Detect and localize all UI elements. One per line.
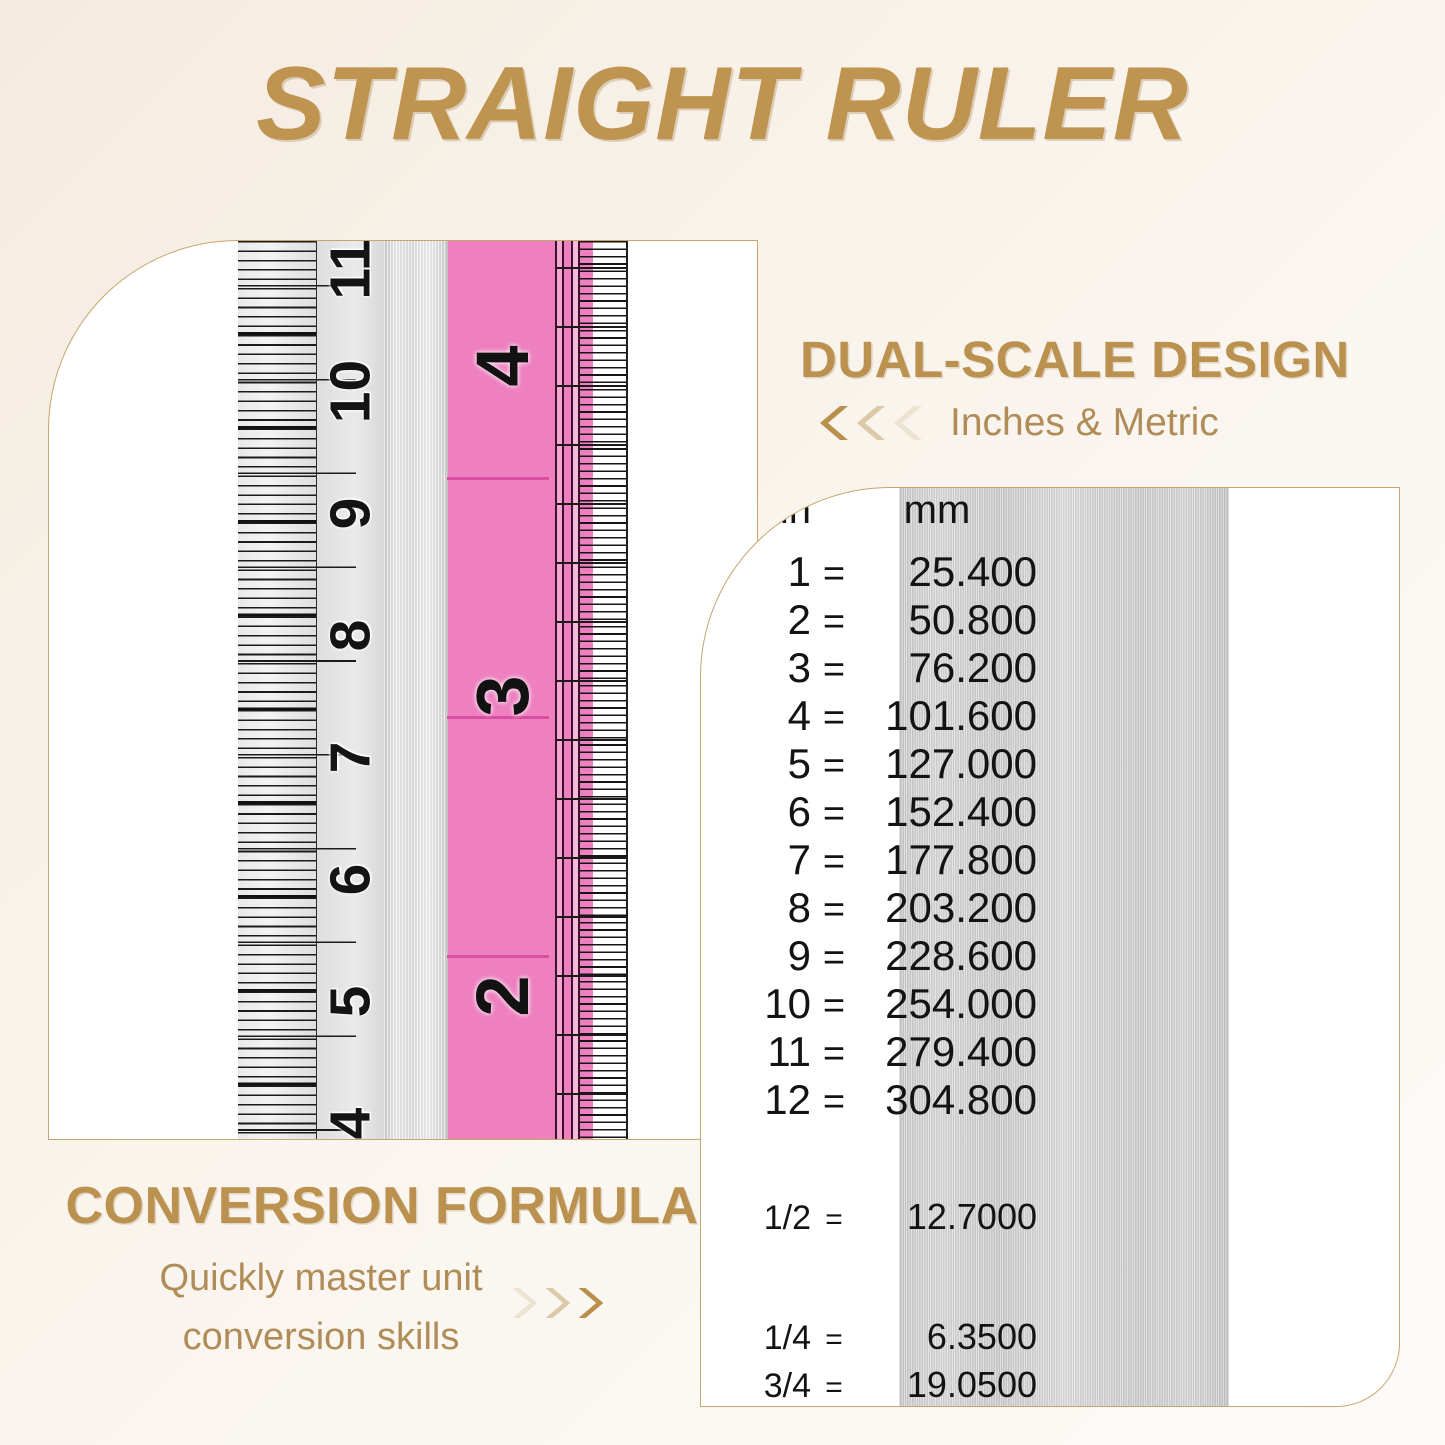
cell-equals: =: [817, 1323, 851, 1357]
cell-mm: 76.200: [851, 644, 1045, 692]
metric-number: 7: [304, 724, 397, 792]
cell-equals: =: [817, 553, 851, 596]
metric-number: 9: [304, 480, 397, 548]
table-row: 4=101.600: [701, 692, 1399, 740]
feature-heading: CONVERSION FORMULA: [52, 1176, 712, 1236]
conversion-table-panel: in mm 1=25.400 2=50.800 3=76.200 4=101.6…: [700, 487, 1400, 1407]
table-row: 3/4=19.0500: [701, 1364, 1399, 1407]
feature-subtitle: Inches & Metric: [950, 401, 1219, 445]
inch-mid-tick-marks: [557, 241, 626, 1139]
table-row: 6=152.400: [701, 788, 1399, 836]
cell-equals: =: [817, 937, 851, 980]
conversion-table: in mm 1=25.400 2=50.800 3=76.200 4=101.6…: [701, 488, 1399, 1406]
cell-mm: 279.400: [851, 1028, 1045, 1076]
cell-in: 1: [701, 548, 817, 596]
cell-mm: 19.0500: [851, 1364, 1045, 1406]
cell-mm: 203.200: [851, 884, 1045, 932]
cell-mm: 50.800: [851, 596, 1045, 644]
table-row: 3=76.200: [701, 644, 1399, 692]
cell-in: 6: [701, 788, 817, 836]
cell-in: 12: [701, 1076, 817, 1124]
feature-subtitle-line2: conversion skills: [159, 1313, 482, 1362]
metric-number: 10: [304, 358, 397, 426]
table-row: 9=228.600: [701, 932, 1399, 980]
ruler-photo-panel: 11 10 9 8 7 6 5 4 4 3 2 32: [48, 240, 758, 1140]
cell-mm: 304.800: [851, 1076, 1045, 1124]
cell-mm: 228.600: [851, 932, 1045, 980]
table-header-row: in mm: [701, 488, 1399, 548]
ruler-illustration: 11 10 9 8 7 6 5 4 4 3 2 32: [49, 241, 757, 1139]
metric-number: 11: [304, 240, 397, 304]
cell-mm: 127.000: [851, 740, 1045, 788]
cell-mm: 152.400: [851, 788, 1045, 836]
ruler-body-strip: [384, 241, 447, 1139]
cell-mm: 254.000: [851, 980, 1045, 1028]
inch-number: 2: [447, 941, 557, 1051]
cell-in: 9: [701, 932, 817, 980]
cell-mm: 177.800: [851, 836, 1045, 884]
cell-equals: =: [817, 697, 851, 740]
feature-heading: DUAL-SCALE DESIGN: [800, 330, 1350, 389]
feature-subrow: Inches & Metric: [800, 401, 1350, 445]
cell-equals: =: [817, 649, 851, 692]
table-group-gap: [701, 1124, 1399, 1196]
cell-in: 7: [701, 836, 817, 884]
cell-equals: =: [817, 841, 851, 884]
inch-number: 4: [447, 311, 557, 421]
table-row: 1=25.400: [701, 548, 1399, 596]
chevron-right-icon: [509, 1284, 605, 1322]
cell-in: 10: [701, 980, 817, 1028]
cell-mm: 101.600: [851, 692, 1045, 740]
cell-in: 2: [701, 596, 817, 644]
cell-equals: =: [817, 985, 851, 1028]
cell-in: 3: [701, 644, 817, 692]
page-title: STRAIGHT RULER: [0, 52, 1445, 156]
table-row: 7=177.800: [701, 836, 1399, 884]
cell-in: 3/4: [701, 1367, 817, 1406]
cell-equals: =: [817, 1371, 851, 1405]
metric-number: 4: [304, 1090, 397, 1141]
cell-in: 8: [701, 884, 817, 932]
column-header-mm: mm: [849, 488, 1025, 533]
table-row: 1/4=6.3500: [701, 1316, 1399, 1364]
feature-subtitle-line1: Quickly master unit: [159, 1254, 482, 1303]
cell-equals: =: [817, 1203, 851, 1237]
metric-number: 8: [304, 602, 397, 670]
table-row: 11=279.400: [701, 1028, 1399, 1076]
cell-equals: =: [817, 889, 851, 932]
feature-dual-scale: DUAL-SCALE DESIGN Inches & Metric: [800, 330, 1350, 445]
cell-equals: =: [817, 793, 851, 836]
table-group-gap: [701, 1244, 1399, 1316]
cell-equals: =: [817, 1033, 851, 1076]
cell-in: 1/4: [701, 1319, 817, 1358]
feature-subrow: Quickly master unit conversion skills: [52, 1244, 712, 1361]
cell-equals: =: [817, 745, 851, 788]
metric-number: 6: [304, 846, 397, 914]
cell-mm: 25.400: [851, 548, 1045, 596]
table-row: 2=50.800: [701, 596, 1399, 644]
table-row: 10=254.000: [701, 980, 1399, 1028]
table-row: 8=203.200: [701, 884, 1399, 932]
inch-number: 3: [447, 641, 557, 751]
table-row: 5=127.000: [701, 740, 1399, 788]
cell-equals: =: [817, 1081, 851, 1124]
cell-in: 4: [701, 692, 817, 740]
inch-number-column: 4 3 2 32: [447, 241, 557, 1139]
table-row: 12=304.800: [701, 1076, 1399, 1124]
feature-conversion-formula: CONVERSION FORMULA Quickly master unit c…: [52, 1176, 712, 1361]
chevron-left-icon: [818, 403, 926, 443]
column-header-in: in: [701, 488, 815, 533]
table-row: 1/2=12.7000: [701, 1196, 1399, 1244]
metric-number: 5: [304, 968, 397, 1036]
cell-in: 5: [701, 740, 817, 788]
cell-in: 1/2: [701, 1199, 817, 1238]
metric-number-column: 11 10 9 8 7 6 5 4: [316, 241, 384, 1139]
cell-in: 11: [701, 1028, 817, 1076]
cell-equals: =: [817, 601, 851, 644]
cell-mm: 6.3500: [851, 1316, 1045, 1358]
cell-mm: 12.7000: [851, 1196, 1045, 1238]
